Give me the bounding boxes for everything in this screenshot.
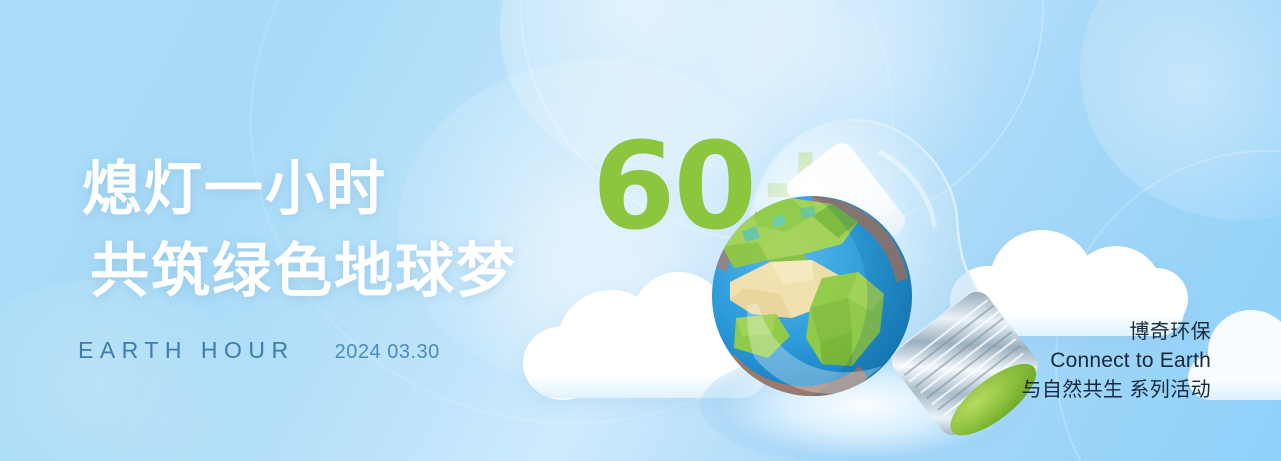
headline-line-2: 共筑绿色地球梦 <box>90 242 517 301</box>
brand-block: 博奇环保 Connect to Earth 与自然共生 系列活动 <box>1021 318 1211 405</box>
background-blob <box>1080 0 1281 220</box>
background-blob <box>0 280 260 461</box>
background-arc <box>1055 150 1281 461</box>
brand-name-en: Connect to Earth <box>1021 346 1211 376</box>
campaign-label: EARTH HOUR <box>78 337 295 364</box>
lightbulb-globe-graphic <box>672 46 1052 446</box>
earth-hour-banner: 60+ <box>0 0 1281 461</box>
lightbulb-icon <box>672 46 1052 446</box>
brand-tagline-cn: 与自然共生 系列活动 <box>1021 376 1211 404</box>
event-date: 2024 03.30 <box>335 341 440 364</box>
headline-line-1: 熄灯一小时 <box>82 160 387 219</box>
subtitle-row: EARTH HOUR 2024 03.30 <box>78 337 440 364</box>
brand-name-cn: 博奇环保 <box>1021 318 1211 346</box>
